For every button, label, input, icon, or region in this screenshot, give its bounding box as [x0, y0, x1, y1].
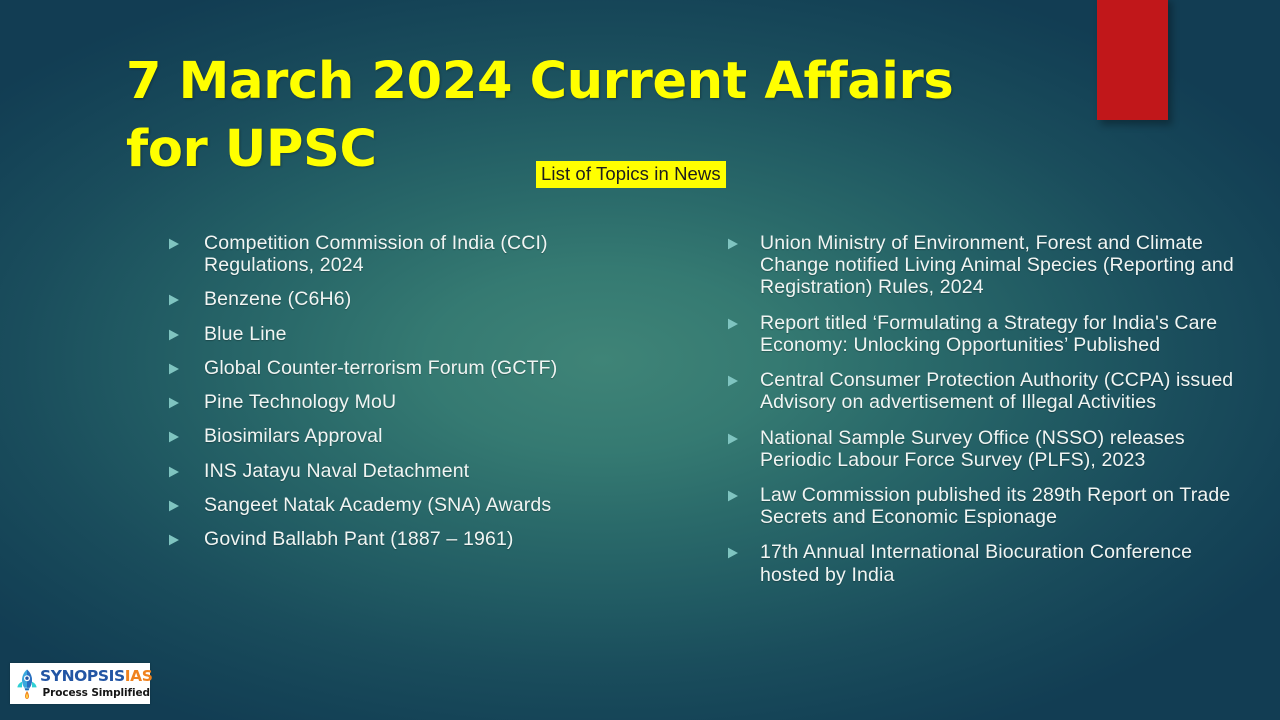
list-item-label: Law Commission published its 289th Repor…	[760, 484, 1235, 528]
triangle-bullet-icon	[168, 534, 180, 546]
logo-text-block: SYNOPSISIAS Process Simplified	[40, 669, 153, 698]
list-item-label: Global Counter-terrorism Forum (GCTF)	[204, 357, 588, 379]
triangle-bullet-icon	[168, 363, 180, 375]
list-item-label: Sangeet Natak Academy (SNA) Awards	[204, 494, 588, 516]
list-item-label: Union Ministry of Environment, Forest an…	[760, 232, 1235, 299]
logo-tagline: Process Simplified	[43, 688, 150, 699]
list-item: Pine Technology MoU	[168, 391, 588, 413]
topics-left-column: Competition Commission of India (CCI) Re…	[168, 232, 588, 562]
list-item-label: Govind Ballabh Pant (1887 – 1961)	[204, 528, 588, 550]
accent-block-red	[1097, 0, 1168, 120]
list-item: Global Counter-terrorism Forum (GCTF)	[168, 357, 588, 379]
list-item-label: Pine Technology MoU	[204, 391, 588, 413]
triangle-bullet-icon	[168, 238, 180, 250]
triangle-bullet-icon	[727, 238, 739, 250]
triangle-bullet-icon	[168, 500, 180, 512]
triangle-bullet-icon	[168, 397, 180, 409]
triangle-bullet-icon	[727, 375, 739, 387]
list-item: National Sample Survey Office (NSSO) rel…	[727, 427, 1235, 471]
list-item: Law Commission published its 289th Repor…	[727, 484, 1235, 528]
list-item-label: Central Consumer Protection Authority (C…	[760, 369, 1235, 413]
list-item-label: Report titled ‘Formulating a Strategy fo…	[760, 312, 1235, 356]
list-item: Biosimilars Approval	[168, 425, 588, 447]
triangle-bullet-icon	[727, 490, 739, 502]
triangle-bullet-icon	[168, 466, 180, 478]
list-item: Sangeet Natak Academy (SNA) Awards	[168, 494, 588, 516]
triangle-bullet-icon	[727, 547, 739, 559]
list-item: Competition Commission of India (CCI) Re…	[168, 232, 588, 276]
triangle-bullet-icon	[168, 329, 180, 341]
list-item: Blue Line	[168, 323, 588, 345]
brand-logo: SYNOPSISIAS Process Simplified	[10, 663, 150, 704]
list-item: 17th Annual International Biocuration Co…	[727, 541, 1235, 585]
logo-wordmark-secondary: IAS	[125, 667, 153, 685]
triangle-bullet-icon	[727, 433, 739, 445]
triangle-bullet-icon	[727, 318, 739, 330]
list-item: Govind Ballabh Pant (1887 – 1961)	[168, 528, 588, 550]
topics-right-column: Union Ministry of Environment, Forest an…	[727, 232, 1235, 599]
list-item: Report titled ‘Formulating a Strategy fo…	[727, 312, 1235, 356]
list-item-label: Benzene (C6H6)	[204, 288, 588, 310]
list-item-label: Blue Line	[204, 323, 588, 345]
rocket-icon	[14, 667, 40, 701]
list-item-label: 17th Annual International Biocuration Co…	[760, 541, 1235, 585]
list-item-label: National Sample Survey Office (NSSO) rel…	[760, 427, 1235, 471]
triangle-bullet-icon	[168, 294, 180, 306]
slide-subtitle: List of Topics in News	[536, 161, 726, 188]
logo-wordmark-primary: SYNOPSIS	[40, 667, 125, 685]
list-item-label: Competition Commission of India (CCI) Re…	[204, 232, 588, 276]
list-item-label: INS Jatayu Naval Detachment	[204, 460, 588, 482]
list-item-label: Biosimilars Approval	[204, 425, 588, 447]
slide-subtitle-container: List of Topics in News	[536, 161, 726, 188]
logo-wordmark: SYNOPSISIAS	[40, 669, 153, 685]
triangle-bullet-icon	[168, 431, 180, 443]
list-item: Union Ministry of Environment, Forest an…	[727, 232, 1235, 299]
list-item: Central Consumer Protection Authority (C…	[727, 369, 1235, 413]
list-item: Benzene (C6H6)	[168, 288, 588, 310]
list-item: INS Jatayu Naval Detachment	[168, 460, 588, 482]
slide-canvas: 7 March 2024 Current Affairs for UPSC Li…	[0, 0, 1280, 720]
